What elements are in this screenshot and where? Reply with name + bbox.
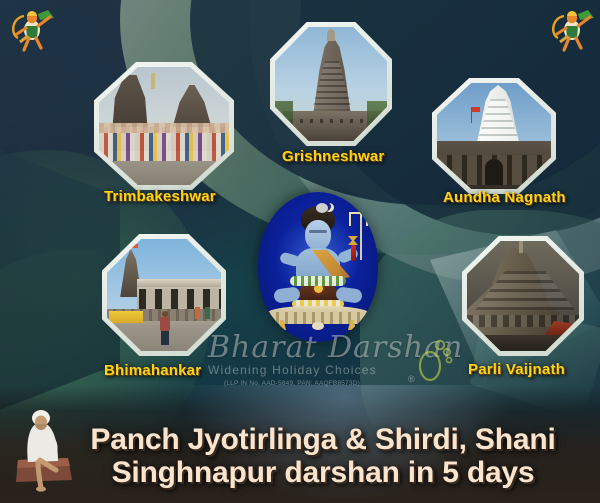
label-grishneshwar: Grishneshwar [282, 148, 384, 165]
label-trimbakeshwar: Trimbakeshwar [104, 188, 216, 205]
poster-canvas: Trimbakeshwar Grishneshwar [0, 0, 600, 503]
label-bhimahankar: Bhimahankar [104, 362, 201, 379]
title-line-2: Singhnapur darshan in 5 days [58, 457, 588, 489]
photo-parli-vaijnath [467, 241, 579, 351]
photo-trimbakeshwar [99, 67, 229, 185]
hanuman-icon-top-right [548, 4, 600, 56]
photo-grishneshwar [275, 27, 387, 141]
photo-aundha-nagnath [437, 83, 551, 189]
shiva-deity-image [258, 192, 378, 342]
photo-bhimahankar [107, 239, 221, 351]
label-aundha-nagnath: Aundha Nagnath [443, 189, 566, 206]
hanuman-icon-top-left [8, 4, 60, 56]
sai-baba-icon [14, 398, 76, 492]
title-line-1: Panch Jyotirlinga & Shirdi, Shani [58, 424, 588, 456]
page-title: Panch Jyotirlinga & Shirdi, Shani Singhn… [58, 424, 588, 489]
label-parli-vaijnath: Parli Vaijnath [468, 361, 565, 378]
